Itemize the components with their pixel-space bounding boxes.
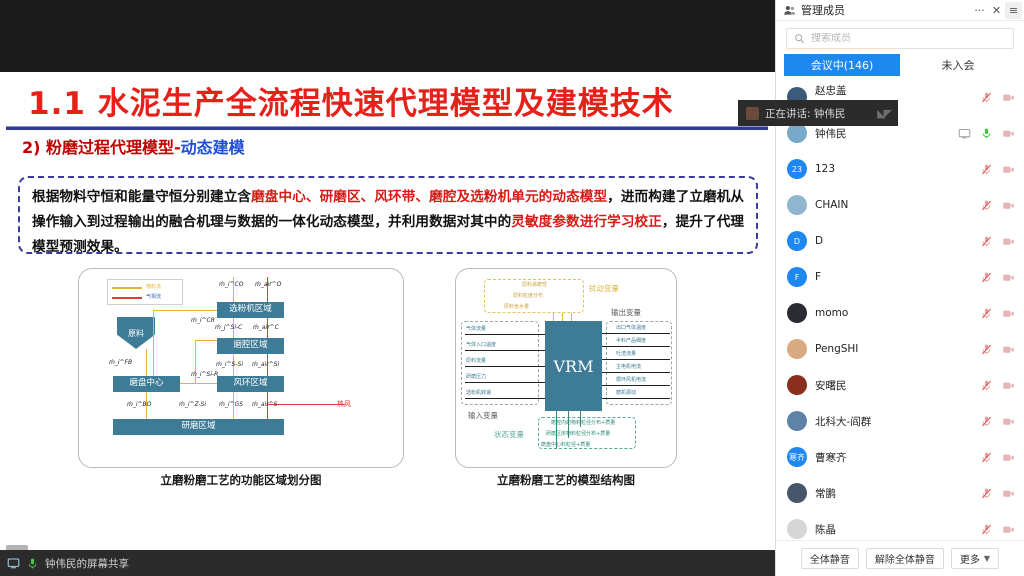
- microphone-on-icon[interactable]: [980, 127, 993, 140]
- panel-header-actions: ··· ✕ ≡: [971, 2, 1022, 19]
- flow-arrow-yellow-7: [180, 383, 217, 384]
- flow-arrow-red-hot-air: [267, 404, 345, 405]
- input-line-3: [465, 382, 545, 383]
- input-label-3: 研磨压力: [466, 373, 486, 380]
- participant-name-wrap: 123: [815, 163, 972, 175]
- participant-status-icons: [958, 127, 1015, 140]
- taskbar-label: 钟伟民的屏幕共享: [45, 556, 129, 571]
- output-label-3: 主电机电流: [616, 363, 641, 370]
- more-button[interactable]: 更多 ▼: [951, 548, 999, 569]
- participant-name-wrap: 钟伟民: [815, 126, 950, 141]
- participant-name-wrap: momo: [815, 307, 972, 319]
- search-container: [776, 21, 1024, 54]
- figure-model-structure: VRM 扰动变量 原料易磨性 原料粒度分布 原料含水量 输入变量 气体流量 气体…: [455, 268, 677, 468]
- shared-screen-area: 1.1 水泥生产全流程快速代理模型及建模技术 2) 粉磨过程代理模型-动态建模 …: [0, 0, 775, 576]
- participant-status-icons: [980, 379, 1015, 392]
- state-arrow-0: [556, 411, 557, 449]
- output-label-0: 出口气体温度: [616, 324, 646, 331]
- participant-name: 赵忠盖: [815, 83, 972, 98]
- microphone-icon[interactable]: [26, 557, 39, 570]
- disturbance-label-2: 原料含水量: [504, 303, 529, 310]
- participant-name-wrap: 北科大-阎群: [815, 414, 972, 429]
- speaking-toast: 正在讲话: 钟伟民 ◣◤: [738, 100, 898, 126]
- unmute-all-button[interactable]: 解除全体静音: [866, 548, 944, 569]
- flow-label-6: ṁ_i^S-Si: [216, 361, 243, 368]
- figure-legend: 物料流 气相流: [107, 279, 183, 305]
- mute-all-label: 全体静音: [810, 551, 850, 566]
- flow-label-10: ṁ_i^Z-Si: [179, 401, 206, 408]
- avatar: [787, 195, 807, 215]
- participant-name-wrap: F: [815, 271, 972, 283]
- input-line-4: [465, 398, 545, 399]
- group-disturbance-title: 扰动变量: [589, 283, 619, 294]
- flow-label-5: ṁ_i^FB: [109, 359, 132, 366]
- search-icon: [794, 33, 805, 44]
- participant-name-wrap: 曹寒齐: [815, 450, 972, 465]
- panel-title: 管理成员: [801, 2, 845, 18]
- camera-off-icon[interactable]: [1002, 307, 1015, 320]
- title-divider: [6, 126, 768, 130]
- legend-material-label: 物料流: [146, 283, 161, 290]
- subtitle-black-part: 2) 粉磨过程代理模型-: [22, 138, 181, 157]
- input-line-2: [465, 366, 545, 367]
- avatar: [787, 339, 807, 359]
- participant-status-icons: [980, 271, 1015, 284]
- participant-name-wrap: PengSHI: [815, 343, 972, 355]
- microphone-muted-icon[interactable]: [980, 307, 993, 320]
- participant-status-icons: [980, 163, 1015, 176]
- participant-status-icons: [980, 487, 1015, 500]
- participant-name-wrap: 安曙民: [815, 378, 972, 393]
- avatar: [787, 375, 807, 395]
- flow-arrow-yellow-9: [195, 340, 217, 341]
- legend-material-line: [112, 287, 142, 289]
- menu-icon[interactable]: ≡: [1005, 2, 1022, 19]
- camera-off-icon[interactable]: [1002, 235, 1015, 248]
- microphone-muted-icon[interactable]: [980, 379, 993, 392]
- group-output-title: 输出变量: [611, 307, 641, 318]
- participant-status-icons: [980, 235, 1015, 248]
- input-line-1: [465, 350, 545, 351]
- output-line-3: [602, 372, 670, 373]
- para-seg-4-highlight: 灵敏度参数进行学习校正: [511, 214, 662, 230]
- microphone-muted-icon[interactable]: [980, 343, 993, 356]
- participant-row[interactable]: 寒齐曹寒齐: [776, 439, 1024, 475]
- flow-label-11: ṁ_i^GS: [219, 401, 243, 408]
- camera-off-icon[interactable]: [1002, 379, 1015, 392]
- para-seg-2-highlight: 磨盘中心、研磨区、风环带、磨腔及选粉机单元的动态模型: [251, 189, 607, 205]
- flow-arrow-yellow-11: [153, 310, 154, 376]
- node-table-center: 磨盘中心: [113, 376, 180, 392]
- tab-in-meeting[interactable]: 会议中(146): [784, 54, 900, 76]
- figure-left-caption: 立磨粉磨工艺的功能区域划分图: [78, 472, 404, 488]
- more-label: 更多: [960, 551, 980, 566]
- participant-list[interactable]: 赵忠盖(主持人, 我)钟伟民23123CHAINDDFFmomoPengSHI安…: [776, 76, 1024, 540]
- node-grinding-zone: 研磨区域: [113, 419, 284, 435]
- participant-row[interactable]: PengSHI: [776, 331, 1024, 367]
- avatar: 23: [787, 159, 807, 179]
- output-label-2: 吐渣流量: [616, 350, 636, 357]
- node-air-ring-zone: 风环区域: [217, 376, 284, 392]
- avatar: [787, 303, 807, 323]
- participant-name: 陈晶: [815, 522, 972, 537]
- microphone-muted-icon[interactable]: [980, 163, 993, 176]
- flow-label-1: ṁ_air^O: [255, 281, 281, 288]
- participant-row[interactable]: 陈晶: [776, 511, 1024, 540]
- state-label-0: 磨腔内的物料粒径分布+质量: [551, 419, 615, 426]
- camera-off-icon[interactable]: [1002, 127, 1015, 140]
- disturbance-arrow-0: [553, 313, 554, 321]
- camera-off-icon[interactable]: [1002, 163, 1015, 176]
- panel-footer: 全体静音 解除全体静音 更多 ▼: [776, 540, 1024, 576]
- screen-share-icon[interactable]: [7, 557, 20, 570]
- camera-off-icon[interactable]: [1002, 271, 1015, 284]
- hot-air-label: 热风: [337, 399, 351, 409]
- participant-status-icons: [980, 91, 1015, 104]
- audio-wave-icon: ◣◤: [877, 107, 890, 120]
- flow-arrow-yellow-10: [153, 310, 217, 311]
- camera-off-icon[interactable]: [1002, 451, 1015, 464]
- participant-name: 北科大-阎群: [815, 414, 972, 429]
- group-state-title: 状态变量: [494, 429, 524, 440]
- camera-off-icon[interactable]: [1002, 415, 1015, 428]
- participant-name-wrap: D: [815, 235, 972, 247]
- output-line-5: [602, 398, 670, 399]
- output-line-4: [602, 385, 670, 386]
- paragraph-text: 根据物料守恒和能量守恒分别建立含磨盘中心、研磨区、风环带、磨腔及选粉机单元的动态…: [32, 185, 746, 260]
- presentation-slide: 1.1 水泥生产全流程快速代理模型及建模技术 2) 粉磨过程代理模型-动态建模 …: [0, 72, 775, 550]
- microphone-muted-icon[interactable]: [980, 271, 993, 284]
- participants-panel: 管理成员 ··· ✕ ≡ 会议中(146) 未入会 赵忠盖(主持人, 我)钟伟民…: [775, 0, 1024, 576]
- unmute-all-label: 解除全体静音: [875, 551, 935, 566]
- output-label-5: 磨机振动: [616, 389, 636, 396]
- camera-off-icon[interactable]: [1002, 199, 1015, 212]
- node-vrm: VRM: [545, 321, 602, 411]
- search-input[interactable]: [811, 33, 1006, 44]
- participant-name: D: [815, 235, 972, 247]
- input-line-0: [465, 334, 545, 335]
- output-label-1: 半料产品细度: [616, 337, 646, 344]
- microphone-muted-icon[interactable]: [980, 523, 993, 536]
- flow-label-9: ṁ_i^BO: [127, 401, 151, 408]
- participant-row[interactable]: 23123: [776, 151, 1024, 187]
- output-label-4: 循环风机电流: [616, 376, 646, 383]
- flow-label-8: ṁ_i^Si-R: [191, 371, 218, 378]
- input-label-1: 气体入口温度: [466, 341, 496, 348]
- participant-name-wrap: 常鹏: [815, 486, 972, 501]
- participant-name: CHAIN: [815, 199, 972, 211]
- participant-row[interactable]: 常鹏: [776, 475, 1024, 511]
- tab-not-joined[interactable]: 未入会: [900, 54, 1016, 76]
- legend-gas-label: 气相流: [146, 293, 161, 300]
- camera-off-icon[interactable]: [1002, 523, 1015, 536]
- slide-subtitle: 2) 粉磨过程代理模型-动态建模: [22, 134, 245, 158]
- participant-name: PengSHI: [815, 343, 972, 355]
- output-line-2: [602, 359, 670, 360]
- state-arrow-2: [580, 411, 581, 427]
- search-box[interactable]: [786, 28, 1014, 49]
- camera-off-icon[interactable]: [1002, 487, 1015, 500]
- participant-row[interactable]: momo: [776, 295, 1024, 331]
- input-label-2: 原料流量: [466, 357, 486, 364]
- avatar: [787, 519, 807, 539]
- participant-name: 123: [815, 163, 972, 175]
- avatar: D: [787, 231, 807, 251]
- avatar: [787, 123, 807, 143]
- participant-row[interactable]: FF: [776, 259, 1024, 295]
- avatar: F: [787, 267, 807, 287]
- participant-status-icons: [980, 199, 1015, 212]
- participant-row[interactable]: 安曙民: [776, 367, 1024, 403]
- slide-title: 1.1 水泥生产全流程快速代理模型及建模技术: [28, 78, 758, 123]
- participant-status-icons: [980, 523, 1015, 536]
- microphone-muted-icon[interactable]: [980, 199, 993, 212]
- state-arrow-1: [568, 411, 569, 438]
- node-mill-chamber-zone: 磨腔区域: [217, 338, 284, 354]
- input-label-0: 气体流量: [466, 325, 486, 332]
- figure-right-caption: 立磨粉磨工艺的模型结构图: [455, 472, 677, 488]
- participant-status-icons: [980, 307, 1015, 320]
- disturbance-label-0: 原料易磨性: [522, 281, 547, 288]
- output-line-1: [602, 346, 670, 347]
- participant-name: 曹寒齐: [815, 450, 972, 465]
- state-label-2: 磨盘中心料粒径+质量: [541, 441, 590, 448]
- highlight-paragraph-box: 根据物料守恒和能量守恒分别建立含磨盘中心、研磨区、风环带、磨腔及选粉机单元的动态…: [18, 176, 758, 254]
- more-options-icon[interactable]: ···: [971, 2, 988, 19]
- avatar: 寒齐: [787, 447, 807, 467]
- participant-name: F: [815, 271, 972, 283]
- disturbance-arrow-2: [571, 313, 572, 321]
- mute-all-button[interactable]: 全体静音: [801, 548, 859, 569]
- participant-row[interactable]: 北科大-阎群: [776, 403, 1024, 439]
- chevron-down-icon: ▼: [984, 554, 990, 563]
- participant-name-wrap: 陈晶: [815, 522, 972, 537]
- participant-name: 常鹏: [815, 486, 972, 501]
- output-line-0: [602, 333, 670, 334]
- members-icon: [783, 4, 796, 17]
- participant-row[interactable]: CHAIN: [776, 187, 1024, 223]
- subtitle-blue-part: 动态建模: [181, 138, 245, 157]
- node-raw-material: 原料: [117, 317, 155, 349]
- microphone-muted-icon[interactable]: [980, 235, 993, 248]
- participant-name-wrap: CHAIN: [815, 199, 972, 211]
- node-separator-zone: 选粉机区域: [217, 302, 284, 318]
- flow-label-2: ṁ_i^CR: [191, 317, 215, 324]
- para-seg-1: 根据物料守恒和能量守恒分别建立含: [32, 189, 251, 205]
- flow-label-4: ṁ_air^C: [253, 324, 279, 331]
- legend-gas-line: [112, 297, 142, 299]
- flow-label-0: ṁ_i^CO: [219, 281, 243, 288]
- microphone-muted-icon[interactable]: [980, 451, 993, 464]
- flow-label-3: ṁ_j^Si-C: [215, 324, 242, 331]
- participant-row[interactable]: DD: [776, 223, 1024, 259]
- participant-status-icons: [980, 451, 1015, 464]
- participant-name: momo: [815, 307, 972, 319]
- participant-status-icons: [980, 415, 1015, 428]
- flow-label-12: ṁ_air^S: [252, 401, 278, 408]
- microphone-muted-icon[interactable]: [980, 91, 993, 104]
- camera-off-icon[interactable]: [1002, 343, 1015, 356]
- screen-share-small-icon[interactable]: [958, 127, 971, 140]
- microphone-muted-icon[interactable]: [980, 415, 993, 428]
- close-icon[interactable]: ✕: [988, 2, 1005, 19]
- participant-status-icons: [980, 343, 1015, 356]
- avatar: [787, 411, 807, 431]
- flow-label-7: ṁ_air^Si: [252, 361, 279, 368]
- microphone-muted-icon[interactable]: [980, 487, 993, 500]
- input-label-4: 选粉机转速: [466, 389, 491, 396]
- disturbance-arrow-1: [562, 313, 563, 321]
- speaking-label: 正在讲话: 钟伟民: [765, 106, 845, 121]
- avatar: [787, 483, 807, 503]
- figure-functional-zones: 物料流 气相流 原料 选粉机区域 磨腔区域 风环区域 磨盘中心 研磨区域: [78, 268, 404, 468]
- disturbance-label-1: 原料粒度分布: [513, 292, 543, 299]
- group-input-title: 输入变量: [468, 410, 498, 421]
- participant-name: 安曙民: [815, 378, 972, 393]
- panel-header: 管理成员 ··· ✕ ≡: [776, 0, 1024, 21]
- flow-arrow-yellow-5: [146, 349, 147, 376]
- camera-off-icon[interactable]: [1002, 91, 1015, 104]
- speaker-avatar: [746, 107, 759, 120]
- participant-name: 钟伟民: [815, 126, 950, 141]
- taskbar: 钟伟民的屏幕共享: [0, 550, 775, 576]
- panel-tabs: 会议中(146) 未入会: [776, 54, 1024, 76]
